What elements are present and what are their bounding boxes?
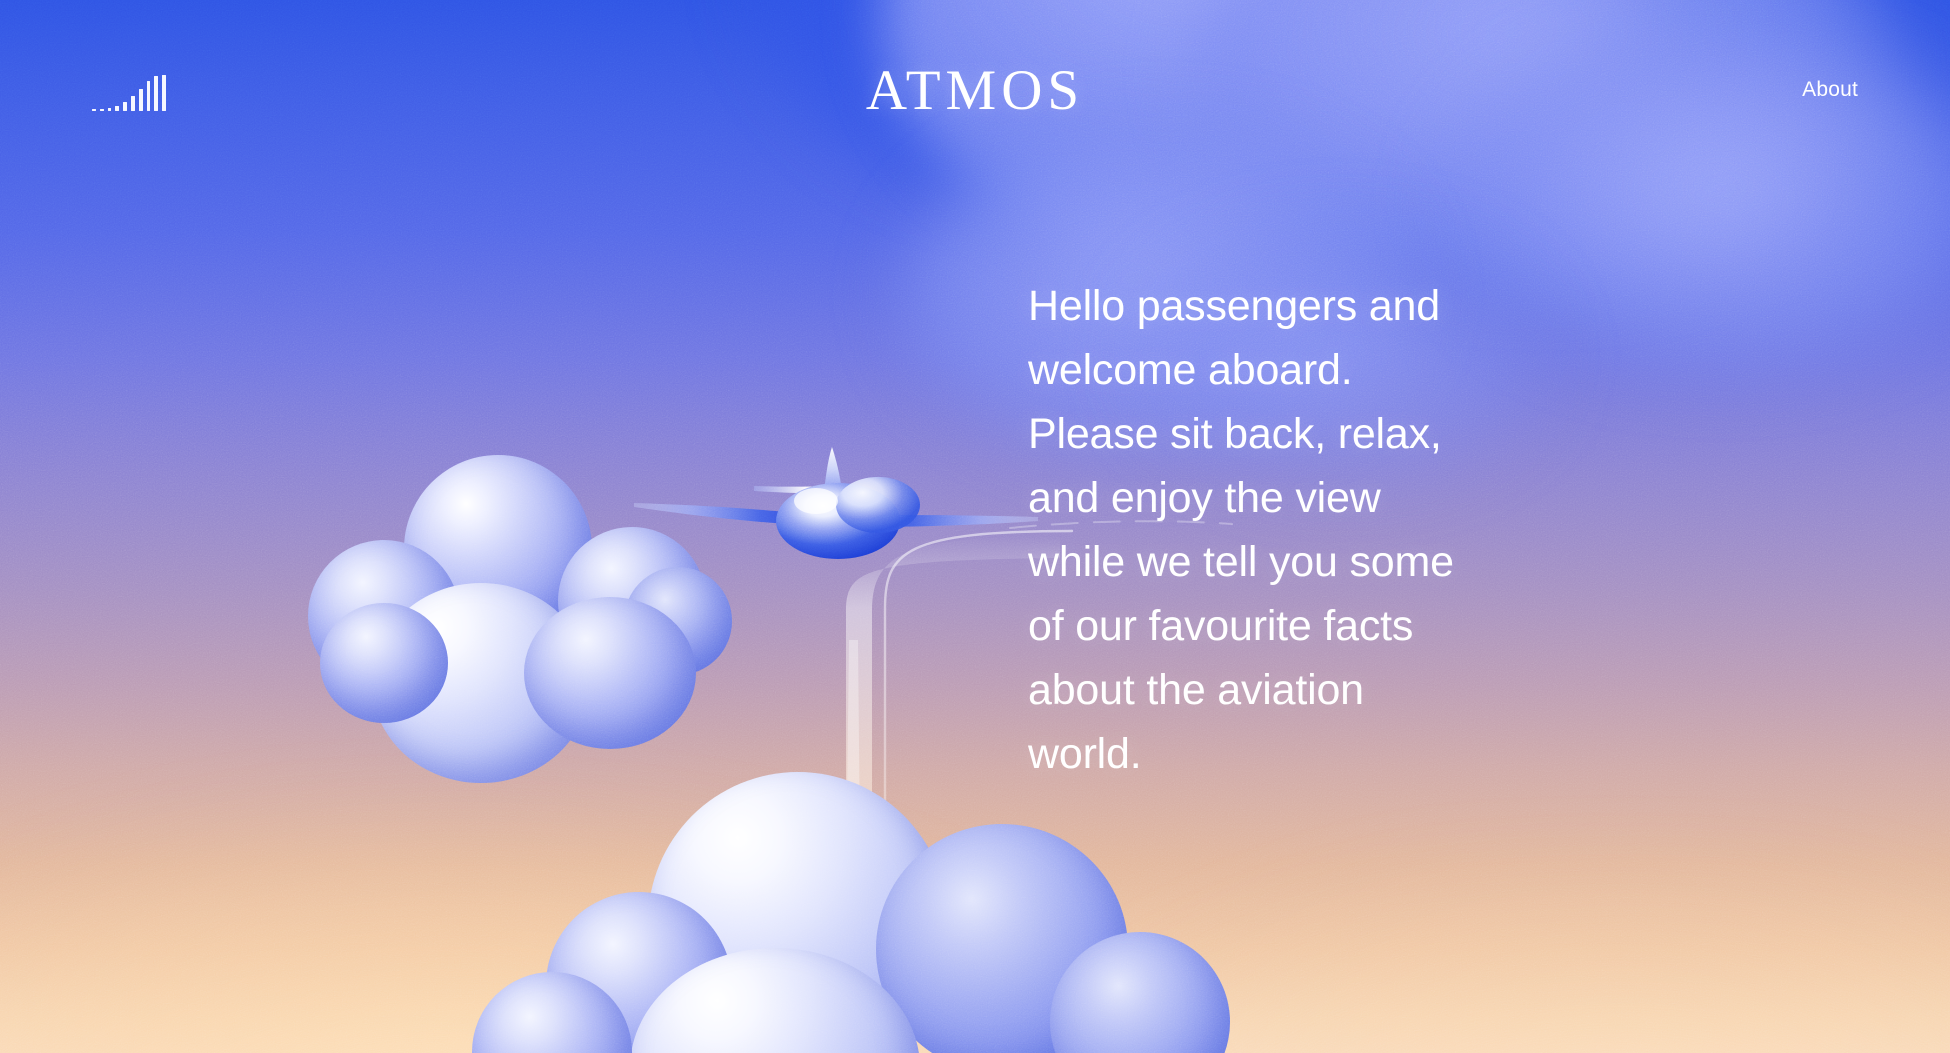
ascending-bars-icon[interactable] bbox=[92, 69, 166, 111]
hero-paragraph-line-6: of our favourite facts bbox=[1028, 594, 1588, 658]
hero-paragraph-line-2: welcome aboard. bbox=[1028, 338, 1588, 402]
primary-navigation: About bbox=[1802, 78, 1858, 102]
airplane-3d-icon bbox=[626, 445, 1046, 565]
hero-paragraph-line-7: about the aviation bbox=[1028, 658, 1588, 722]
hero-paragraph-line-4: and enjoy the view bbox=[1028, 466, 1588, 530]
hero-paragraph-line-1: Hello passengers and bbox=[1028, 274, 1588, 338]
hero-paragraph-line-5: while we tell you some bbox=[1028, 530, 1588, 594]
nav-link-about[interactable]: About bbox=[1802, 78, 1858, 102]
hero-copy-block: Hello passengers and welcome aboard. Ple… bbox=[1028, 274, 1588, 786]
hero-paragraph-line-3: Please sit back, relax, bbox=[1028, 402, 1588, 466]
landing-page: ATMOS About Hello passengers and welcome… bbox=[0, 0, 1950, 1053]
hero-paragraph-line-8: world. bbox=[1028, 722, 1588, 786]
brand-wordmark-text[interactable]: ATMOS bbox=[866, 59, 1084, 122]
cloud-bottom-3d bbox=[520, 772, 1160, 1053]
brand-wordmark: ATMOS bbox=[0, 58, 1950, 123]
site-header: ATMOS About bbox=[0, 0, 1950, 180]
